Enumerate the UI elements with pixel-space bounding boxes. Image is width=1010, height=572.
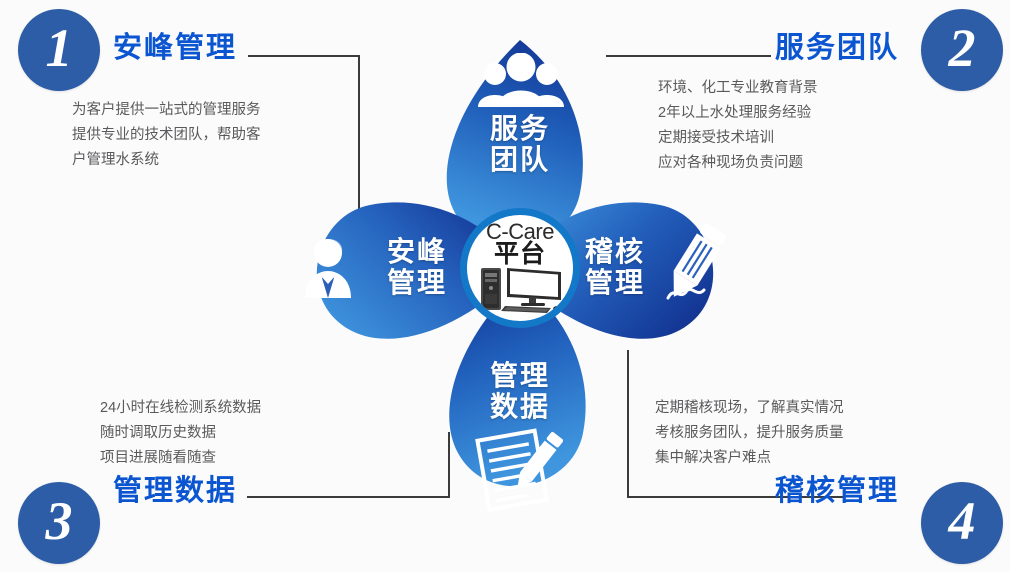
petal-service-team-label: 服务 团队 (470, 113, 570, 175)
quadrant-1-body: 为客户提供一站式的管理服务 提供专业的技术团队，帮助客 户管理水系统 (72, 98, 261, 173)
petal-audit-line-2: 管理 (565, 267, 665, 298)
quadrant-3-body: 24小时在线检测系统数据 随时调取历史数据 项目进展随看随查 (100, 396, 261, 471)
quadrant-4-title: 稽核管理 (775, 467, 899, 509)
center-hub[interactable]: C-Care 平台 (460, 208, 580, 328)
quadrant-1-line-1: 为客户提供一站式的管理服务 (72, 98, 261, 123)
petal-service-team-line-2: 团队 (470, 144, 570, 175)
hub-subtitle: 平台 (494, 242, 546, 266)
people-group-icon (473, 53, 569, 109)
petal-anfeng-line-2: 管理 (367, 267, 467, 298)
petal-audit-management-label: 稽核 管理 (565, 236, 665, 298)
petal-service-team-line-1: 服务 (470, 113, 570, 144)
badge-number-3: 3 (18, 482, 100, 564)
badge-2-label: 2 (949, 21, 976, 75)
petal-mgmt-data-line-1: 管理 (470, 360, 570, 391)
petal-anfeng-line-1: 安峰 (367, 236, 467, 267)
petal-audit-line-1: 稽核 (565, 236, 665, 267)
badge-number-2: 2 (921, 9, 1003, 91)
businessman-icon (297, 236, 359, 300)
quadrant-2-title: 服务团队 (775, 24, 899, 66)
petal-anfeng-management-label: 安峰 管理 (367, 236, 467, 298)
badge-3-label: 3 (46, 494, 73, 548)
quadrant-3-title: 管理数据 (113, 467, 237, 509)
quadrant-3-line-1: 24小时在线检测系统数据 (100, 396, 261, 421)
desktop-computer-icon (477, 264, 563, 319)
quadrant-1-title: 安峰管理 (113, 24, 237, 66)
petal-mgmt-data-line-2: 数据 (470, 391, 570, 422)
petal-management-data-label: 管理 数据 (470, 360, 570, 422)
badge-number-1: 1 (18, 9, 100, 91)
quadrant-3-line-3: 项目进展随看随查 (100, 446, 261, 471)
infographic-canvas: 1 安峰管理 为客户提供一站式的管理服务 提供专业的技术团队，帮助客 户管理水系… (0, 0, 1010, 572)
quadrant-1-line-2: 提供专业的技术团队，帮助客 (72, 123, 261, 148)
quadrant-1-line-3: 户管理水系统 (72, 148, 261, 173)
badge-number-4: 4 (921, 482, 1003, 564)
flower-diagram: 服务 团队 安峰 管理 稽核 管理 (255, 8, 775, 548)
badge-1-label: 1 (46, 21, 73, 75)
quadrant-3-line-2: 随时调取历史数据 (100, 421, 261, 446)
badge-4-label: 4 (949, 494, 976, 548)
pencil-icon (660, 220, 736, 312)
clipboard-pen-icon (475, 426, 563, 512)
